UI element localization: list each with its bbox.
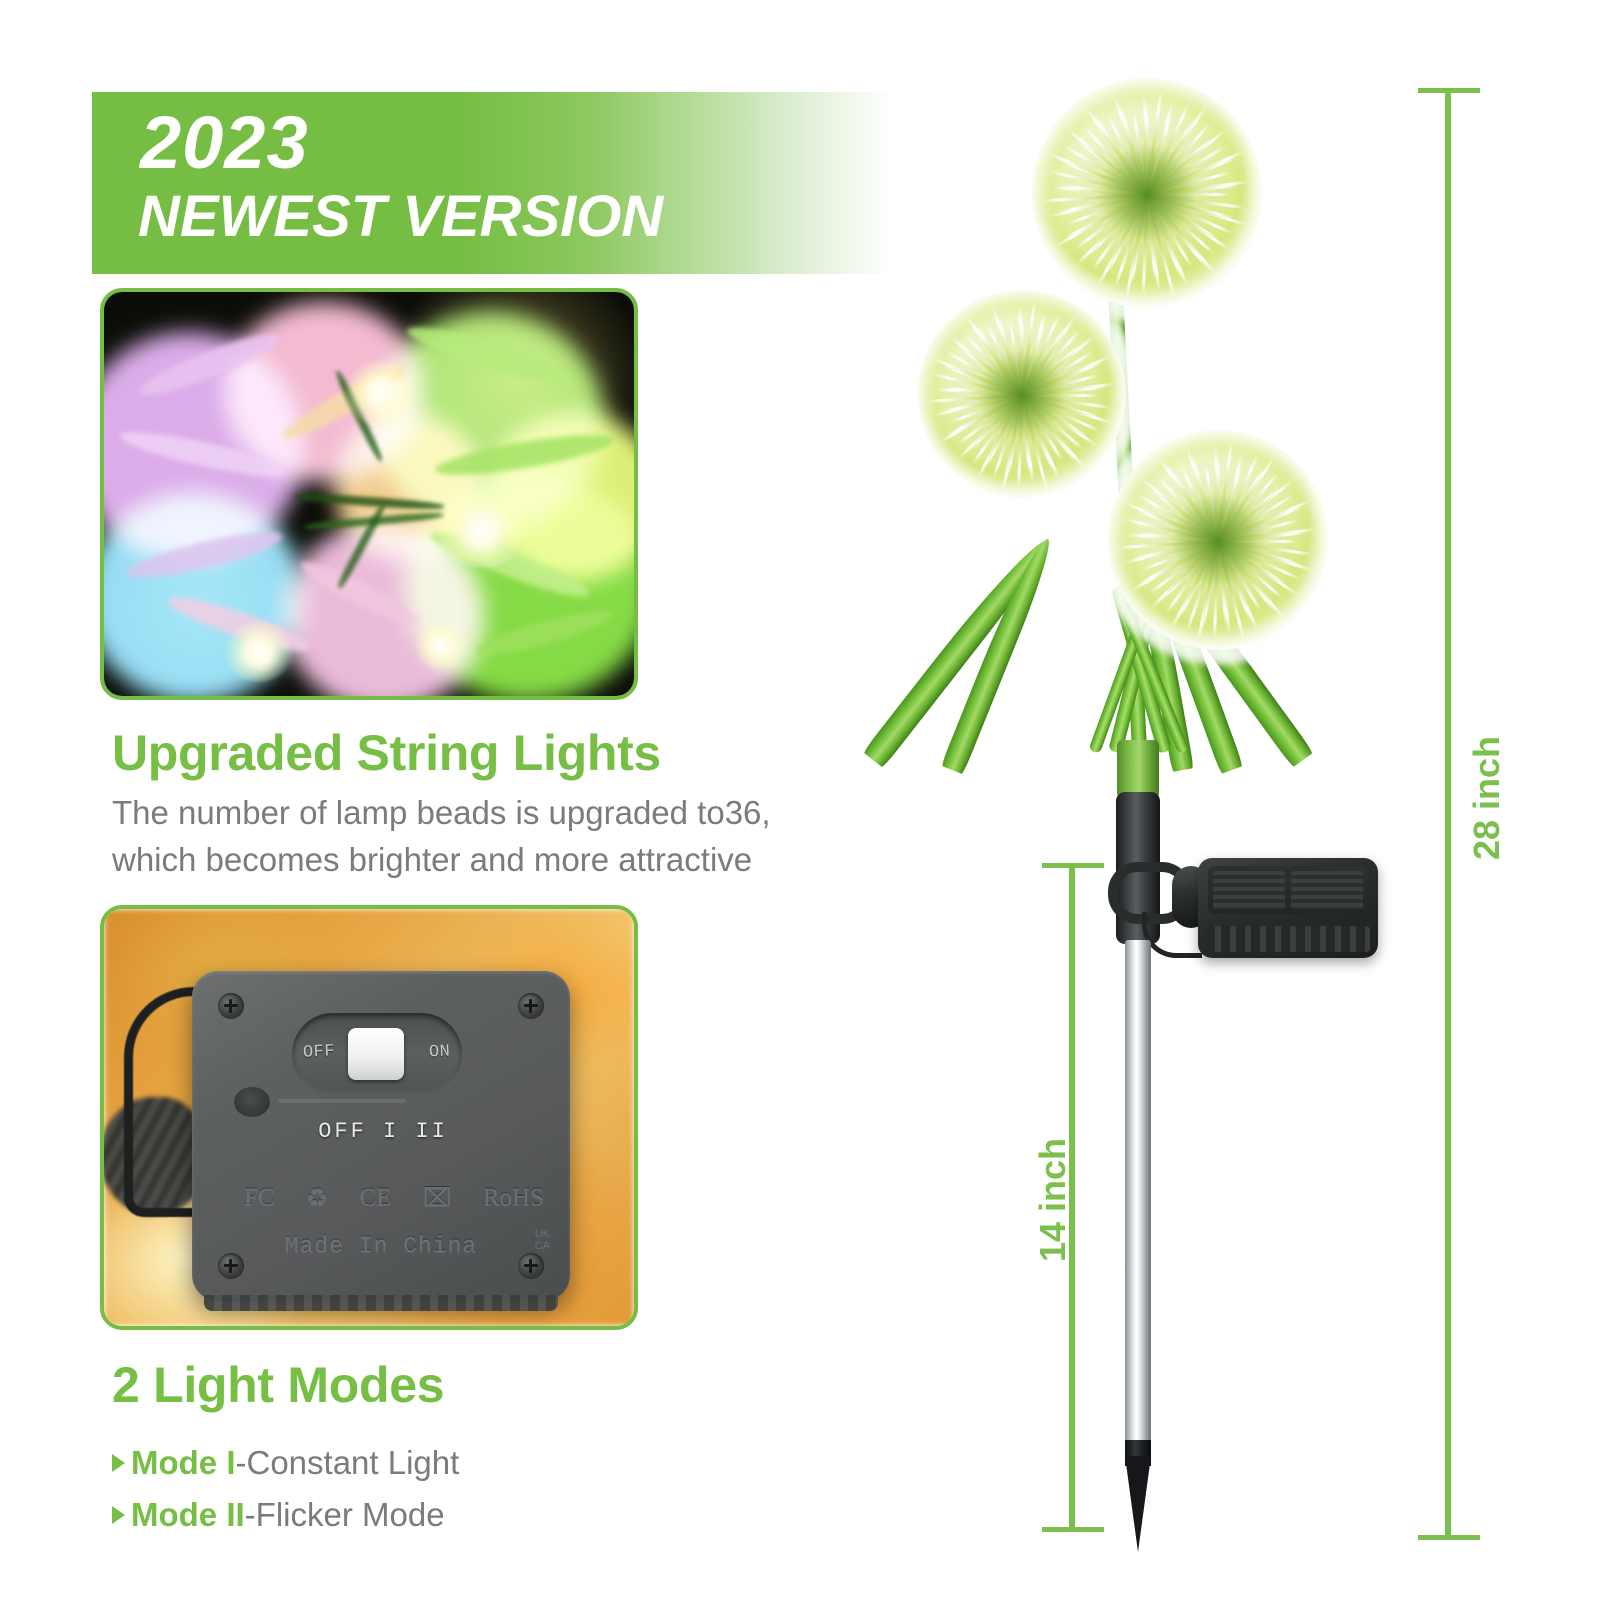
ground-stake [1125, 940, 1151, 1460]
rohs-icon: RoHS [483, 1184, 544, 1212]
solar-cells [1208, 866, 1368, 914]
switch-mode-legend: OFF I II [298, 1119, 468, 1144]
dim-cap-bottom-28 [1418, 1535, 1480, 1540]
dim-label-14-inch: 14 inch [1032, 1138, 1074, 1262]
switch-off-label: OFF [303, 1042, 336, 1063]
section-title-light-modes: 2 Light Modes [112, 1356, 444, 1414]
triangle-bullet-icon [112, 1454, 125, 1472]
product-infographic: 2023 NEWEST VERSION [0, 0, 1600, 1600]
ce-icon: CE [360, 1184, 392, 1212]
mode-key: Mode I [131, 1444, 236, 1482]
product-illustration [820, 40, 1460, 1580]
switch-on-label: ON [428, 1042, 450, 1062]
dim-label-28-inch: 28 inch [1466, 736, 1508, 860]
stake-point-icon [1125, 1456, 1151, 1552]
triangle-bullet-icon [112, 1506, 125, 1524]
led-spark [434, 492, 530, 568]
list-item: Mode II -Flicker Mode [112, 1489, 459, 1541]
panel-vent-base [1206, 926, 1370, 952]
banner-subtitle: NEWEST VERSION [138, 188, 663, 246]
weee-bin-icon: ⌧ [423, 1183, 452, 1213]
flower-head-right [1108, 430, 1328, 650]
cable-grommet [278, 1099, 406, 1103]
flower-head-top [1032, 78, 1262, 308]
solar-panel [1198, 858, 1378, 958]
dim-line-28 [1445, 88, 1451, 1540]
cable-grommet-hole [234, 1087, 270, 1117]
made-in-label: Made In China [192, 1233, 570, 1259]
section-body-upgraded-lights: The number of lamp beads is upgraded to3… [112, 790, 842, 884]
ukca-icon: UKCA [535, 1229, 550, 1252]
screw-icon [218, 993, 244, 1019]
controller-housing: OFF ON OFF I II FC ♻ CE ⌧ RoHS Made In C… [192, 971, 570, 1301]
switch-panel-photo: OFF ON OFF I II FC ♻ CE ⌧ RoHS Made In C… [100, 905, 638, 1330]
solar-cell [1213, 871, 1285, 909]
led-spark [414, 622, 468, 670]
section-title-upgraded-lights: Upgraded String Lights [112, 724, 661, 782]
switch-recess[interactable]: OFF ON [292, 1013, 462, 1095]
mode-key: Mode II [131, 1496, 245, 1534]
fcc-icon: FC [244, 1184, 275, 1212]
switch-slider-knob[interactable] [348, 1028, 404, 1080]
lit-flower-photo [100, 288, 638, 700]
flower-head-left [918, 290, 1126, 498]
mode-value: -Constant Light [236, 1444, 460, 1482]
screw-icon [518, 993, 544, 1019]
dim-cap-bottom-14 [1042, 1527, 1104, 1532]
solar-cell [1291, 871, 1363, 909]
recycle-icon: ♻ [306, 1183, 328, 1213]
stem-ferrule [1117, 740, 1159, 798]
light-modes-list: Mode I -Constant Light Mode II -Flicker … [112, 1437, 459, 1541]
version-banner: 2023 NEWEST VERSION [92, 92, 892, 274]
mode-value: -Flicker Mode [245, 1496, 445, 1534]
led-spark [344, 360, 418, 426]
banner-year: 2023 [140, 106, 309, 180]
list-item: Mode I -Constant Light [112, 1437, 459, 1489]
certification-marks: FC ♻ CE ⌧ RoHS [244, 1183, 544, 1213]
led-spark [224, 622, 294, 682]
